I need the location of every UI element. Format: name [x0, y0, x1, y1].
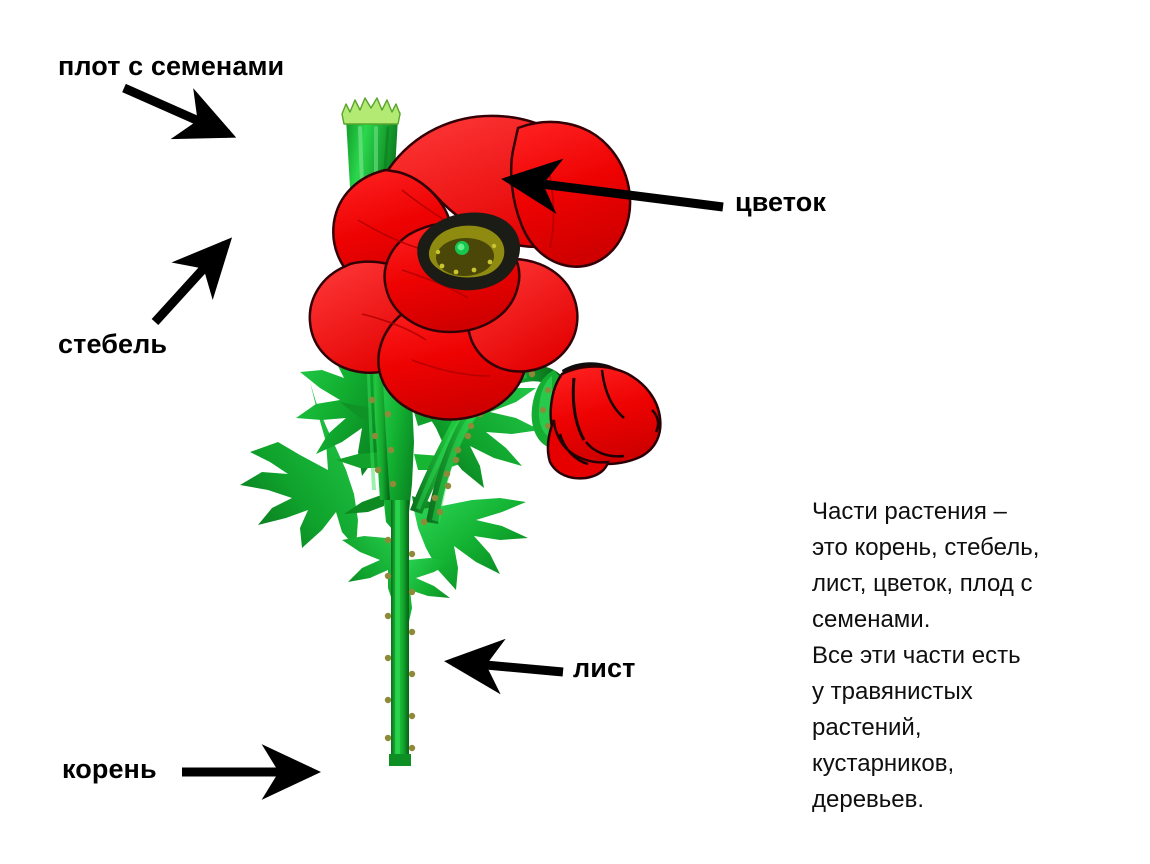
label-seed-pod: плот с семенами	[58, 52, 284, 80]
description-text: Части растения – это корень, стебель, ли…	[812, 494, 1112, 818]
diagram-canvas: плот с семенами стебель цветок лист коре…	[0, 0, 1150, 864]
label-flower: цветок	[735, 188, 826, 216]
label-leaf: лист	[573, 654, 635, 682]
label-root: корень	[62, 755, 157, 783]
plant-base-stem	[389, 500, 411, 766]
poppy-bud	[532, 362, 661, 478]
poppy-plant-illustration	[150, 70, 710, 800]
label-stem: стебель	[58, 330, 167, 358]
